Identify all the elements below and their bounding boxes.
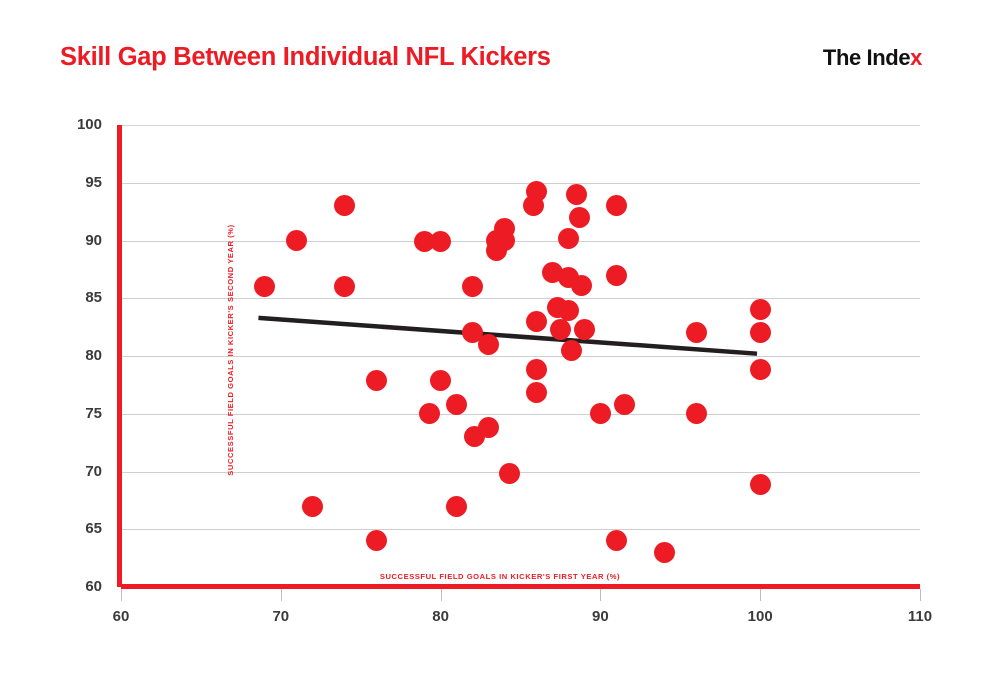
data-point [366,370,387,391]
chart-header: Skill Gap Between Individual NFL Kickers… [0,0,1000,100]
x-tick-mark-70 [281,589,282,601]
data-point [494,230,515,251]
y-tick-label-60: 60 [58,578,102,595]
y-tick-label-75: 75 [58,405,102,422]
x-tick-mark-80 [441,589,442,601]
data-point [446,394,467,415]
data-point [571,275,592,296]
data-point [686,403,707,424]
data-point [750,474,771,495]
data-point [558,228,579,249]
data-point [750,322,771,343]
x-tick-mark-60 [121,589,122,601]
x-tick-label-60: 60 [91,608,151,625]
y-axis-title: SUCCESSFUL FIELD GOALS IN KICKER'S SECON… [226,224,235,475]
data-point [590,403,611,424]
data-point [419,403,440,424]
y-axis-title-host: SUCCESSFUL FIELD GOALS IN KICKER'S SECON… [113,185,127,515]
y-tick-label-85: 85 [58,289,102,306]
data-point [574,319,595,340]
data-point [561,340,582,361]
x-tick-mark-100 [760,589,761,601]
data-point [750,359,771,380]
plot-area [121,125,920,587]
data-point [302,496,323,517]
x-tick-mark-90 [600,589,601,601]
brand-logo-accent: x [910,45,922,70]
data-point [614,394,635,415]
x-tick-mark-110 [920,589,921,601]
x-tick-label-80: 80 [411,608,471,625]
scatter-chart: Skill Gap Between Individual NFL Kickers… [0,0,1000,683]
brand-logo-main: The Inde [823,45,910,70]
data-point [446,496,467,517]
y-tick-label-95: 95 [58,174,102,191]
page-title: Skill Gap Between Individual NFL Kickers [60,43,551,72]
brand-logo: The Index [823,45,922,71]
data-point [478,334,499,355]
x-axis-title: SUCCESSFUL FIELD GOALS IN KICKER'S FIRST… [0,572,1000,581]
y-tick-label-100: 100 [58,116,102,133]
data-point [499,463,520,484]
y-tick-label-65: 65 [58,520,102,537]
y-tick-label-80: 80 [58,347,102,364]
data-point [654,542,675,563]
x-tick-label-100: 100 [730,608,790,625]
data-point [750,299,771,320]
data-point [430,370,451,391]
x-tick-label-70: 70 [251,608,311,625]
x-tick-label-90: 90 [570,608,630,625]
y-axis-ticks: 6065707580859095100 [58,125,102,587]
y-tick-label-70: 70 [58,463,102,480]
data-point [550,319,571,340]
data-point [606,265,627,286]
data-point [566,184,587,205]
x-tick-label-110: 110 [890,608,950,625]
data-point [569,207,590,228]
data-point [526,311,547,332]
data-point [478,417,499,438]
y-tick-label-90: 90 [58,232,102,249]
x-axis-rule [121,584,920,589]
trend-line [121,125,920,587]
